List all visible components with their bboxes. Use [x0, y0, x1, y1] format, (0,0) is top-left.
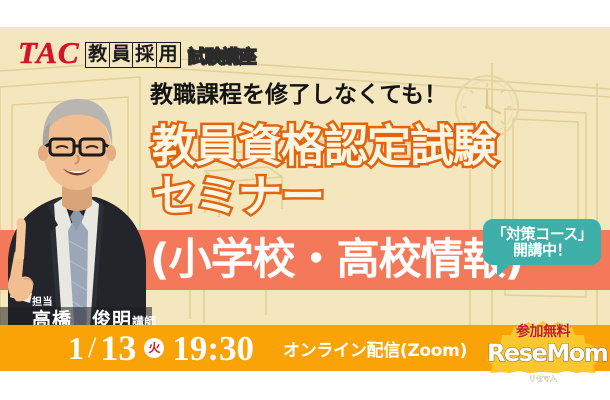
schedule-day: 13	[100, 330, 136, 366]
bubble-line-1: 「対策コース」	[492, 226, 593, 242]
kicker-text: 教職課程を修了しなくても！	[150, 84, 447, 107]
free-badge: 参加無料 ReseMomリセマム	[487, 321, 599, 373]
main-title-line1: 教員資格認定試験	[152, 122, 496, 172]
poster-stage: TAC 教 員 採 用 試験講座 教職課程を修了しなくても！ 教員資格認定試験 …	[0, 0, 610, 400]
schedule-day-of-week: 火	[144, 338, 164, 358]
delivery-method: オンライン配信(Zoom)	[283, 325, 467, 371]
course-label: 試験講座	[188, 48, 256, 68]
schedule-separator: /	[88, 333, 96, 363]
resemom-text: ReseMom	[487, 339, 607, 367]
bubble-line-2: 開講中！	[513, 242, 571, 258]
resemom-tiny-text: リセマム	[529, 375, 557, 383]
free-badge-text: 参加無料	[487, 325, 599, 340]
course-callout-bubble: 「対策コース」 開講中！	[483, 219, 601, 265]
resemom-watermark: ReseMomリセマム	[487, 340, 599, 395]
schedule-time: 19:30	[172, 331, 254, 366]
presenter-role: 担当	[32, 297, 156, 309]
boxed-char-4: 用	[156, 42, 181, 68]
main-title-line2: セミナー	[152, 172, 324, 222]
schedule-month: 1	[68, 332, 84, 364]
promo-banner: TAC 教 員 採 用 試験講座 教職課程を修了しなくても！ 教員資格認定試験 …	[0, 27, 610, 371]
schedule-datetime: 1 / 13 火 19:30	[68, 325, 254, 371]
